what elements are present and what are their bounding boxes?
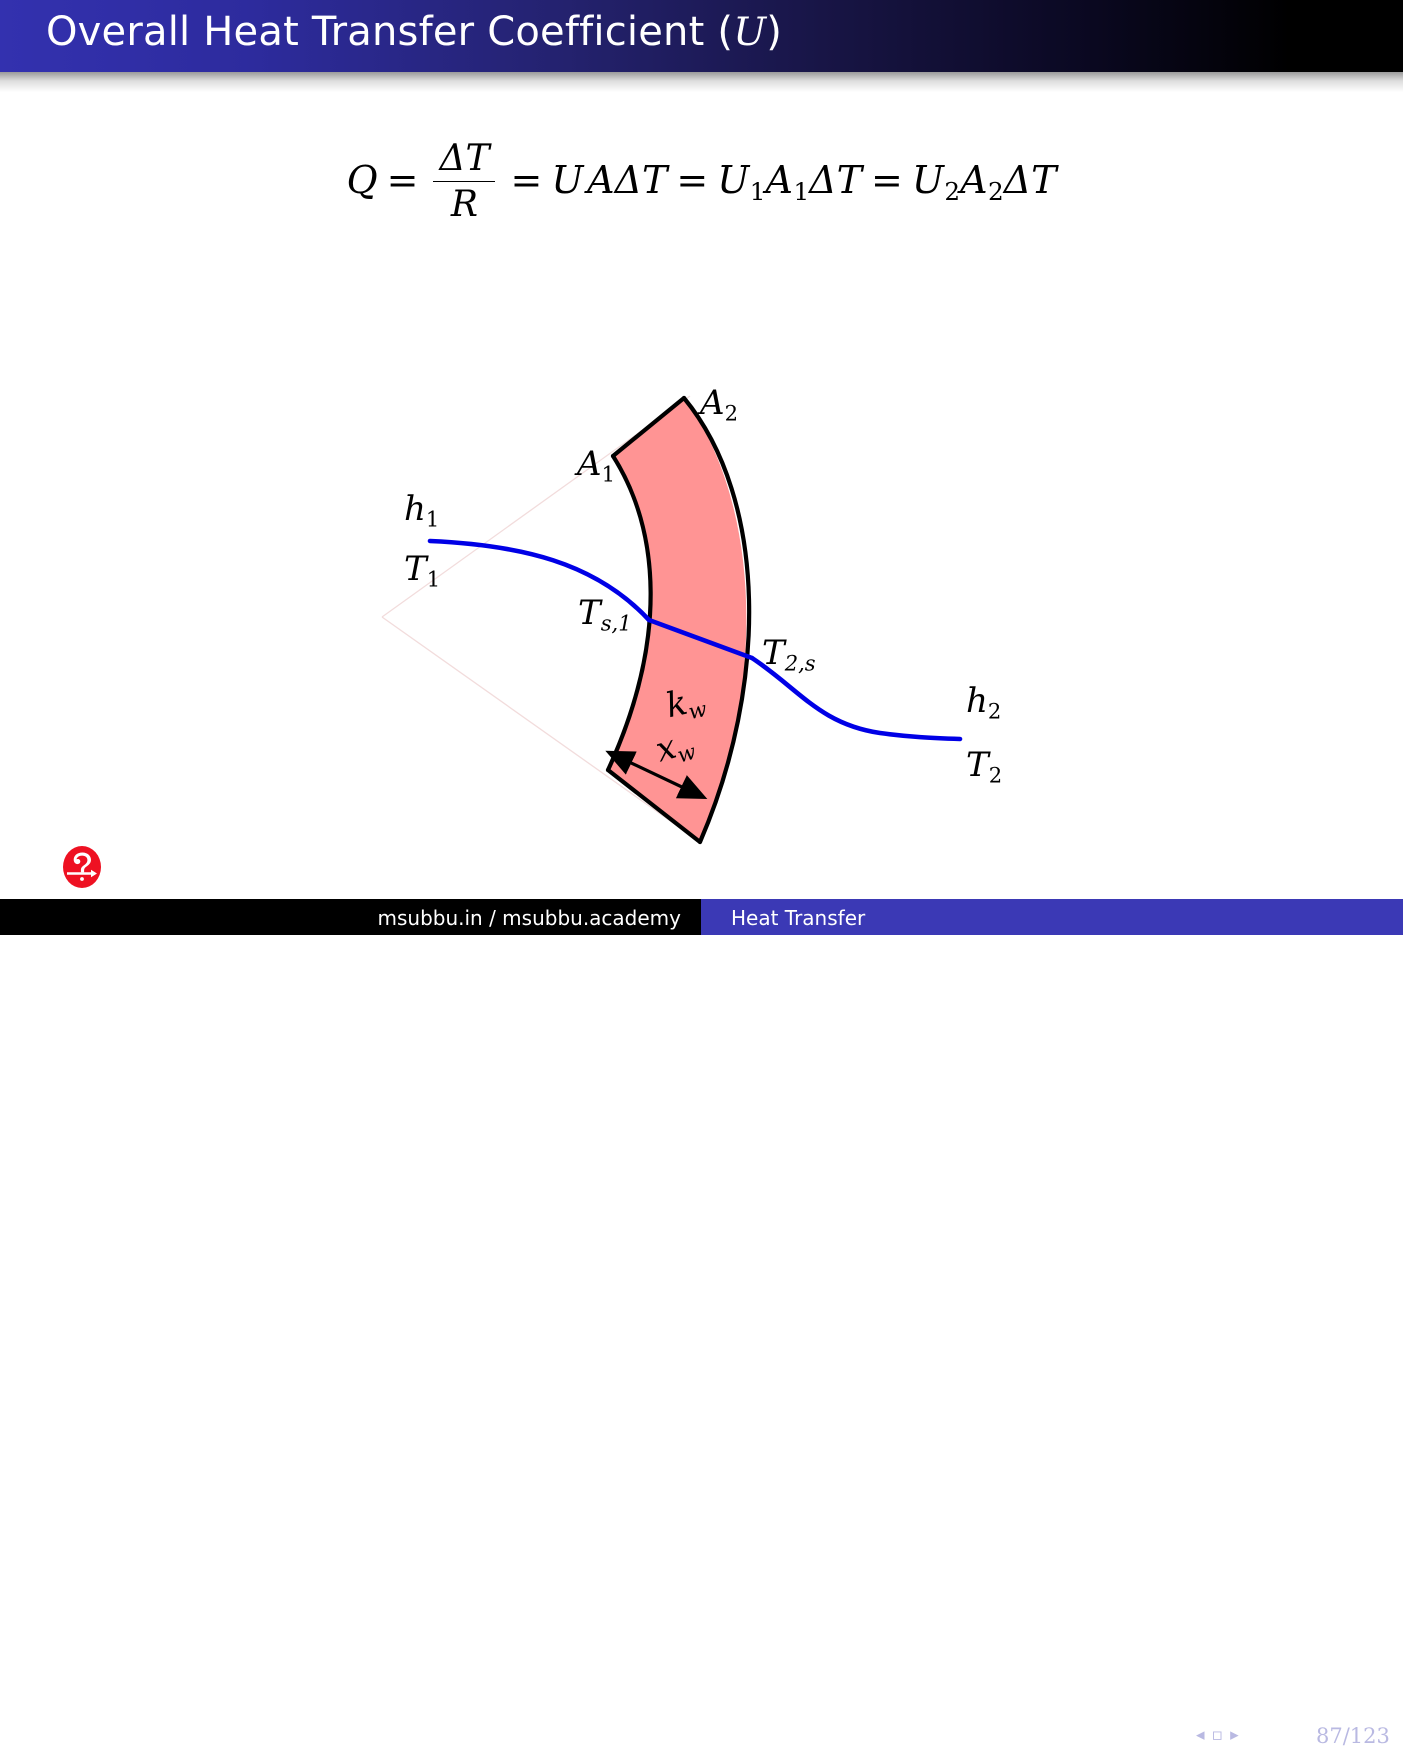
equation-equals-4: = <box>862 158 912 202</box>
equation-equals-3: = <box>667 158 717 202</box>
slide-footer: msubbu.in / msubbu.academy Heat Transfer <box>0 899 1403 935</box>
label-xw: xw <box>652 725 698 771</box>
page-title-symbol: U <box>733 10 766 55</box>
footer-right-bar: Heat Transfer <box>701 899 1403 935</box>
title-bar-shadow <box>0 72 1403 92</box>
page-title: Overall Heat Transfer Coefficient (U) <box>46 9 782 55</box>
equation-term4-A-subscript: 2 <box>988 177 1004 206</box>
equation-fraction-denominator: R <box>433 182 495 225</box>
page-counter: 87/123 <box>1316 1724 1390 1748</box>
label-T2s: T2,s <box>762 636 816 673</box>
equation-lhs-Q: Q <box>346 158 377 202</box>
equation-term3-deltaT: ΔT <box>809 158 862 202</box>
equation-term2-A: A <box>587 158 614 202</box>
equation-term4-U-subscript: 2 <box>944 177 960 206</box>
equation-fraction-deltaT-over-R: ΔTR <box>433 138 495 225</box>
equation-term3-U: U <box>717 158 749 202</box>
equation-term4-deltaT: ΔT <box>1004 158 1057 202</box>
label-h1: h1 <box>404 492 439 529</box>
equation-term3-U-subscript: 1 <box>749 177 765 206</box>
heat-transfer-equation: Q=ΔTR=U AΔT=U1A1ΔT=U2A2ΔT <box>0 140 1403 227</box>
footer-left-bar: msubbu.in / msubbu.academy <box>0 899 701 935</box>
equation-equals-2: = <box>501 158 551 202</box>
equation-term2-deltaT: ΔT <box>615 158 668 202</box>
label-h2: h2 <box>966 684 1001 721</box>
prev-slide-icon[interactable]: ◂ <box>1196 1725 1212 1745</box>
navigation-controls[interactable]: ◂▫▸ <box>1196 1725 1246 1745</box>
wall-bottom-edge <box>608 770 700 842</box>
equation-term3-A: A <box>766 158 793 202</box>
wedge-guide-lines <box>382 396 700 842</box>
label-Ts1: Ts,1 <box>578 596 632 633</box>
page-title-text: Overall Heat Transfer Coefficient ( <box>46 9 733 55</box>
equation-equals-1: = <box>378 158 428 202</box>
equation-fraction-numerator: ΔT <box>433 138 495 182</box>
equation-term4-A: A <box>960 158 987 202</box>
equation-term2-U: U <box>551 158 583 202</box>
label-T1: T1 <box>404 552 440 589</box>
wall-top-edge <box>613 398 684 456</box>
next-slide-icon[interactable]: ▸ <box>1230 1725 1246 1745</box>
label-T2: T2 <box>966 748 1002 785</box>
equation-term3-A-subscript: 1 <box>793 177 809 206</box>
label-A1: A1 <box>577 447 615 484</box>
footer-subject-text: Heat Transfer <box>731 906 865 930</box>
footer-author-text: msubbu.in / msubbu.academy <box>377 906 681 930</box>
current-frame-icon[interactable]: ▫ <box>1212 1725 1231 1745</box>
wedge-guide-lower <box>382 617 700 842</box>
outer-surface-arc-A2 <box>684 398 749 842</box>
label-kw: kw <box>663 682 709 727</box>
navigation-row: ◂▫▸ 87/123 <box>0 860 1403 894</box>
page-title-close-paren: ) <box>766 9 782 55</box>
equation-term4-U: U <box>912 158 944 202</box>
temperature-profile-through-wall <box>649 620 752 658</box>
label-A2: A2 <box>700 386 738 423</box>
